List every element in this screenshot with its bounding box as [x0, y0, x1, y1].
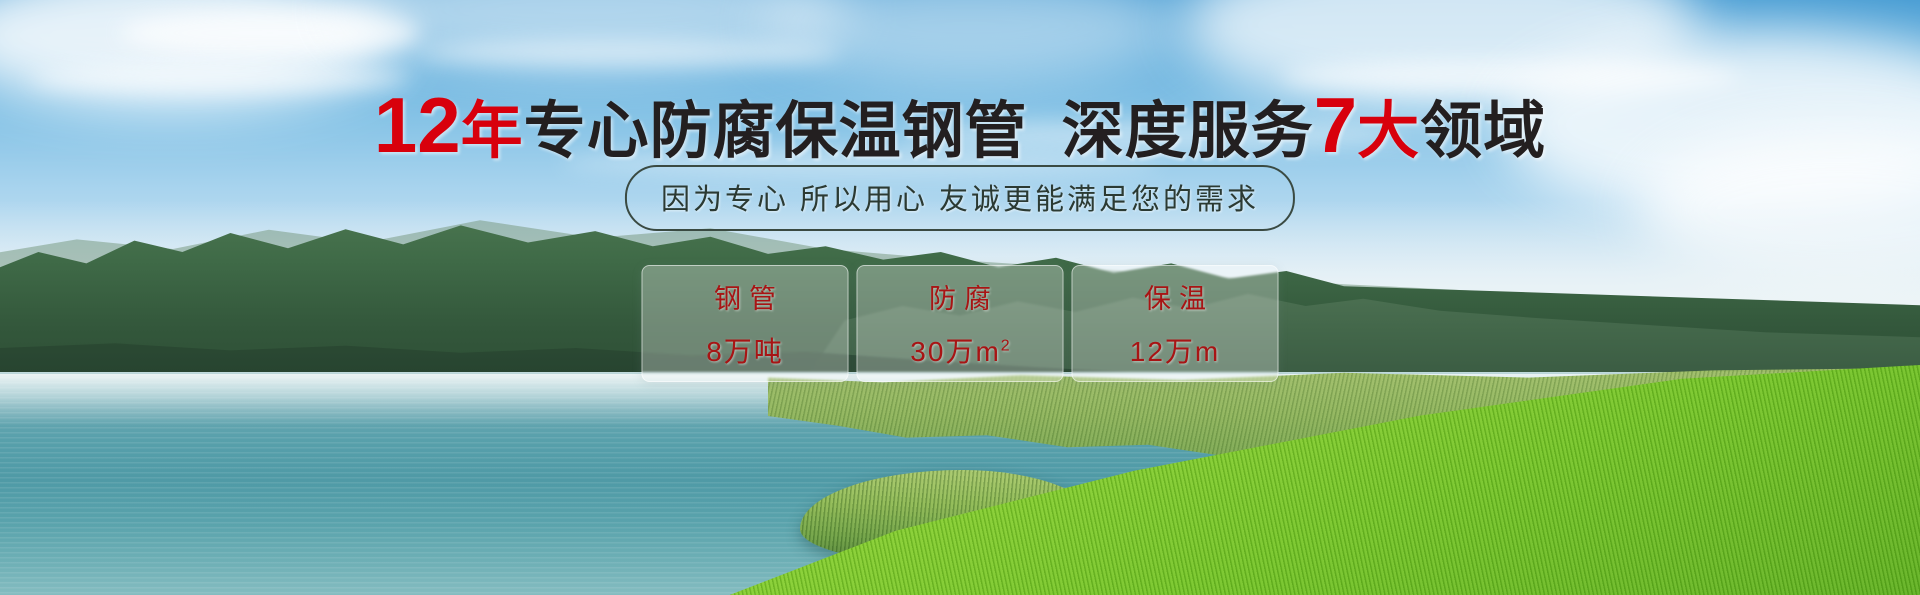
stat-card-list: 钢管 8万吨 防腐 30万m2 保温 12万m [642, 265, 1279, 382]
stat-card: 保温 12万m [1072, 265, 1279, 382]
headline-fields-unit: 大 [1357, 97, 1420, 166]
stat-card-value: 8万吨 [706, 330, 784, 370]
headline: 12年专心防腐保温钢管深度服务7大领域 [0, 80, 1920, 170]
stat-card-title: 钢管 [706, 277, 784, 316]
headline-fields-number: 7 [1314, 81, 1357, 169]
stat-card-value-text: 30万m [910, 336, 1000, 367]
stat-card: 防腐 30万m2 [857, 265, 1064, 382]
headline-years-unit: 年 [461, 97, 524, 166]
hero-banner: 12年专心防腐保温钢管深度服务7大领域 因为专心 所以用心 友诚更能满足您的需求… [0, 0, 1920, 595]
banner-content: 12年专心防腐保温钢管深度服务7大领域 因为专心 所以用心 友诚更能满足您的需求… [0, 0, 1920, 595]
stat-card-title: 防腐 [921, 277, 999, 316]
stat-card-value-text: 8万吨 [706, 336, 784, 367]
headline-fields-text: 领域 [1420, 97, 1546, 166]
stat-card-title: 保温 [1136, 277, 1214, 316]
subtitle-pill: 因为专心 所以用心 友诚更能满足您的需求 [625, 165, 1295, 231]
stat-card-value: 30万m2 [910, 330, 1009, 370]
stat-card: 钢管 8万吨 [642, 265, 849, 382]
stat-card-value: 12万m [1130, 330, 1220, 370]
stat-card-value-superscript: 2 [1001, 338, 1010, 355]
headline-main-text: 专心防腐保温钢管 [524, 97, 1028, 166]
headline-years-number: 12 [374, 81, 461, 169]
headline-service-text: 深度服务 [1062, 97, 1314, 166]
stat-card-value-text: 12万m [1130, 336, 1220, 367]
